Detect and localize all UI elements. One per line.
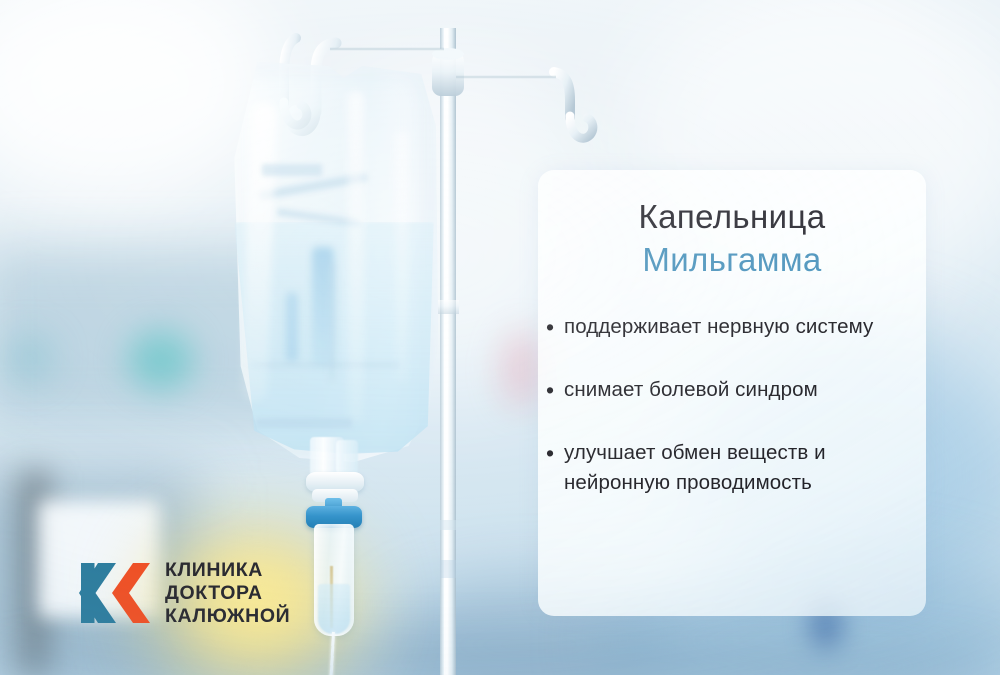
benefit-text: поддерживает нервную систему xyxy=(564,312,873,342)
iv-bag xyxy=(228,62,438,462)
kk-monogram-icon xyxy=(76,555,152,631)
bullet-icon: • xyxy=(546,438,564,468)
drip-chamber-fluid xyxy=(318,584,350,634)
logo-line-3: КАЛЮЖНОЙ xyxy=(165,605,290,627)
benefit-item: • снимает болевой синдром xyxy=(542,375,916,405)
iv-bag-highlight xyxy=(348,92,364,422)
iv-bag-label-blur xyxy=(256,418,352,428)
iv-bag-port-secondary xyxy=(336,440,358,474)
bullet-icon: • xyxy=(546,312,564,342)
iv-bag-highlight xyxy=(396,132,408,382)
benefits-list: • поддерживает нервную систему • снимает… xyxy=(542,312,916,498)
card-title-product: Мильгамма xyxy=(538,239,926,280)
iv-bag-crease xyxy=(328,262,336,382)
logo-line-1: КЛИНИКА xyxy=(165,559,263,581)
iv-bag-crease xyxy=(250,362,400,368)
logo-line-2: ДОКТОРА xyxy=(165,582,263,604)
bullet-icon: • xyxy=(546,375,564,405)
card-title-block: Капельница Мильгамма xyxy=(538,198,926,280)
benefit-item: • улучшает обмен веществ и нейронную про… xyxy=(542,438,916,498)
benefit-text: улучшает обмен веществ и нейронную прово… xyxy=(564,438,916,498)
iv-bag-blue-marking-secondary xyxy=(286,292,298,362)
benefit-item: • поддерживает нервную систему xyxy=(542,312,916,342)
card-title-primary: Капельница xyxy=(538,198,926,237)
clinic-logo[interactable]: КЛИНИКАДОКТОРАКАЛЮЖНОЙ xyxy=(76,555,290,631)
info-card: Капельница Мильгамма • поддерживает нерв… xyxy=(538,170,926,616)
advertisement-banner: Капельница Мильгамма • поддерживает нерв… xyxy=(0,0,1000,675)
benefit-text: снимает болевой синдром xyxy=(564,375,818,405)
clinic-logo-text: КЛИНИКАДОКТОРАКАЛЮЖНОЙ xyxy=(165,559,290,628)
iv-bag-label-blur xyxy=(262,164,322,176)
